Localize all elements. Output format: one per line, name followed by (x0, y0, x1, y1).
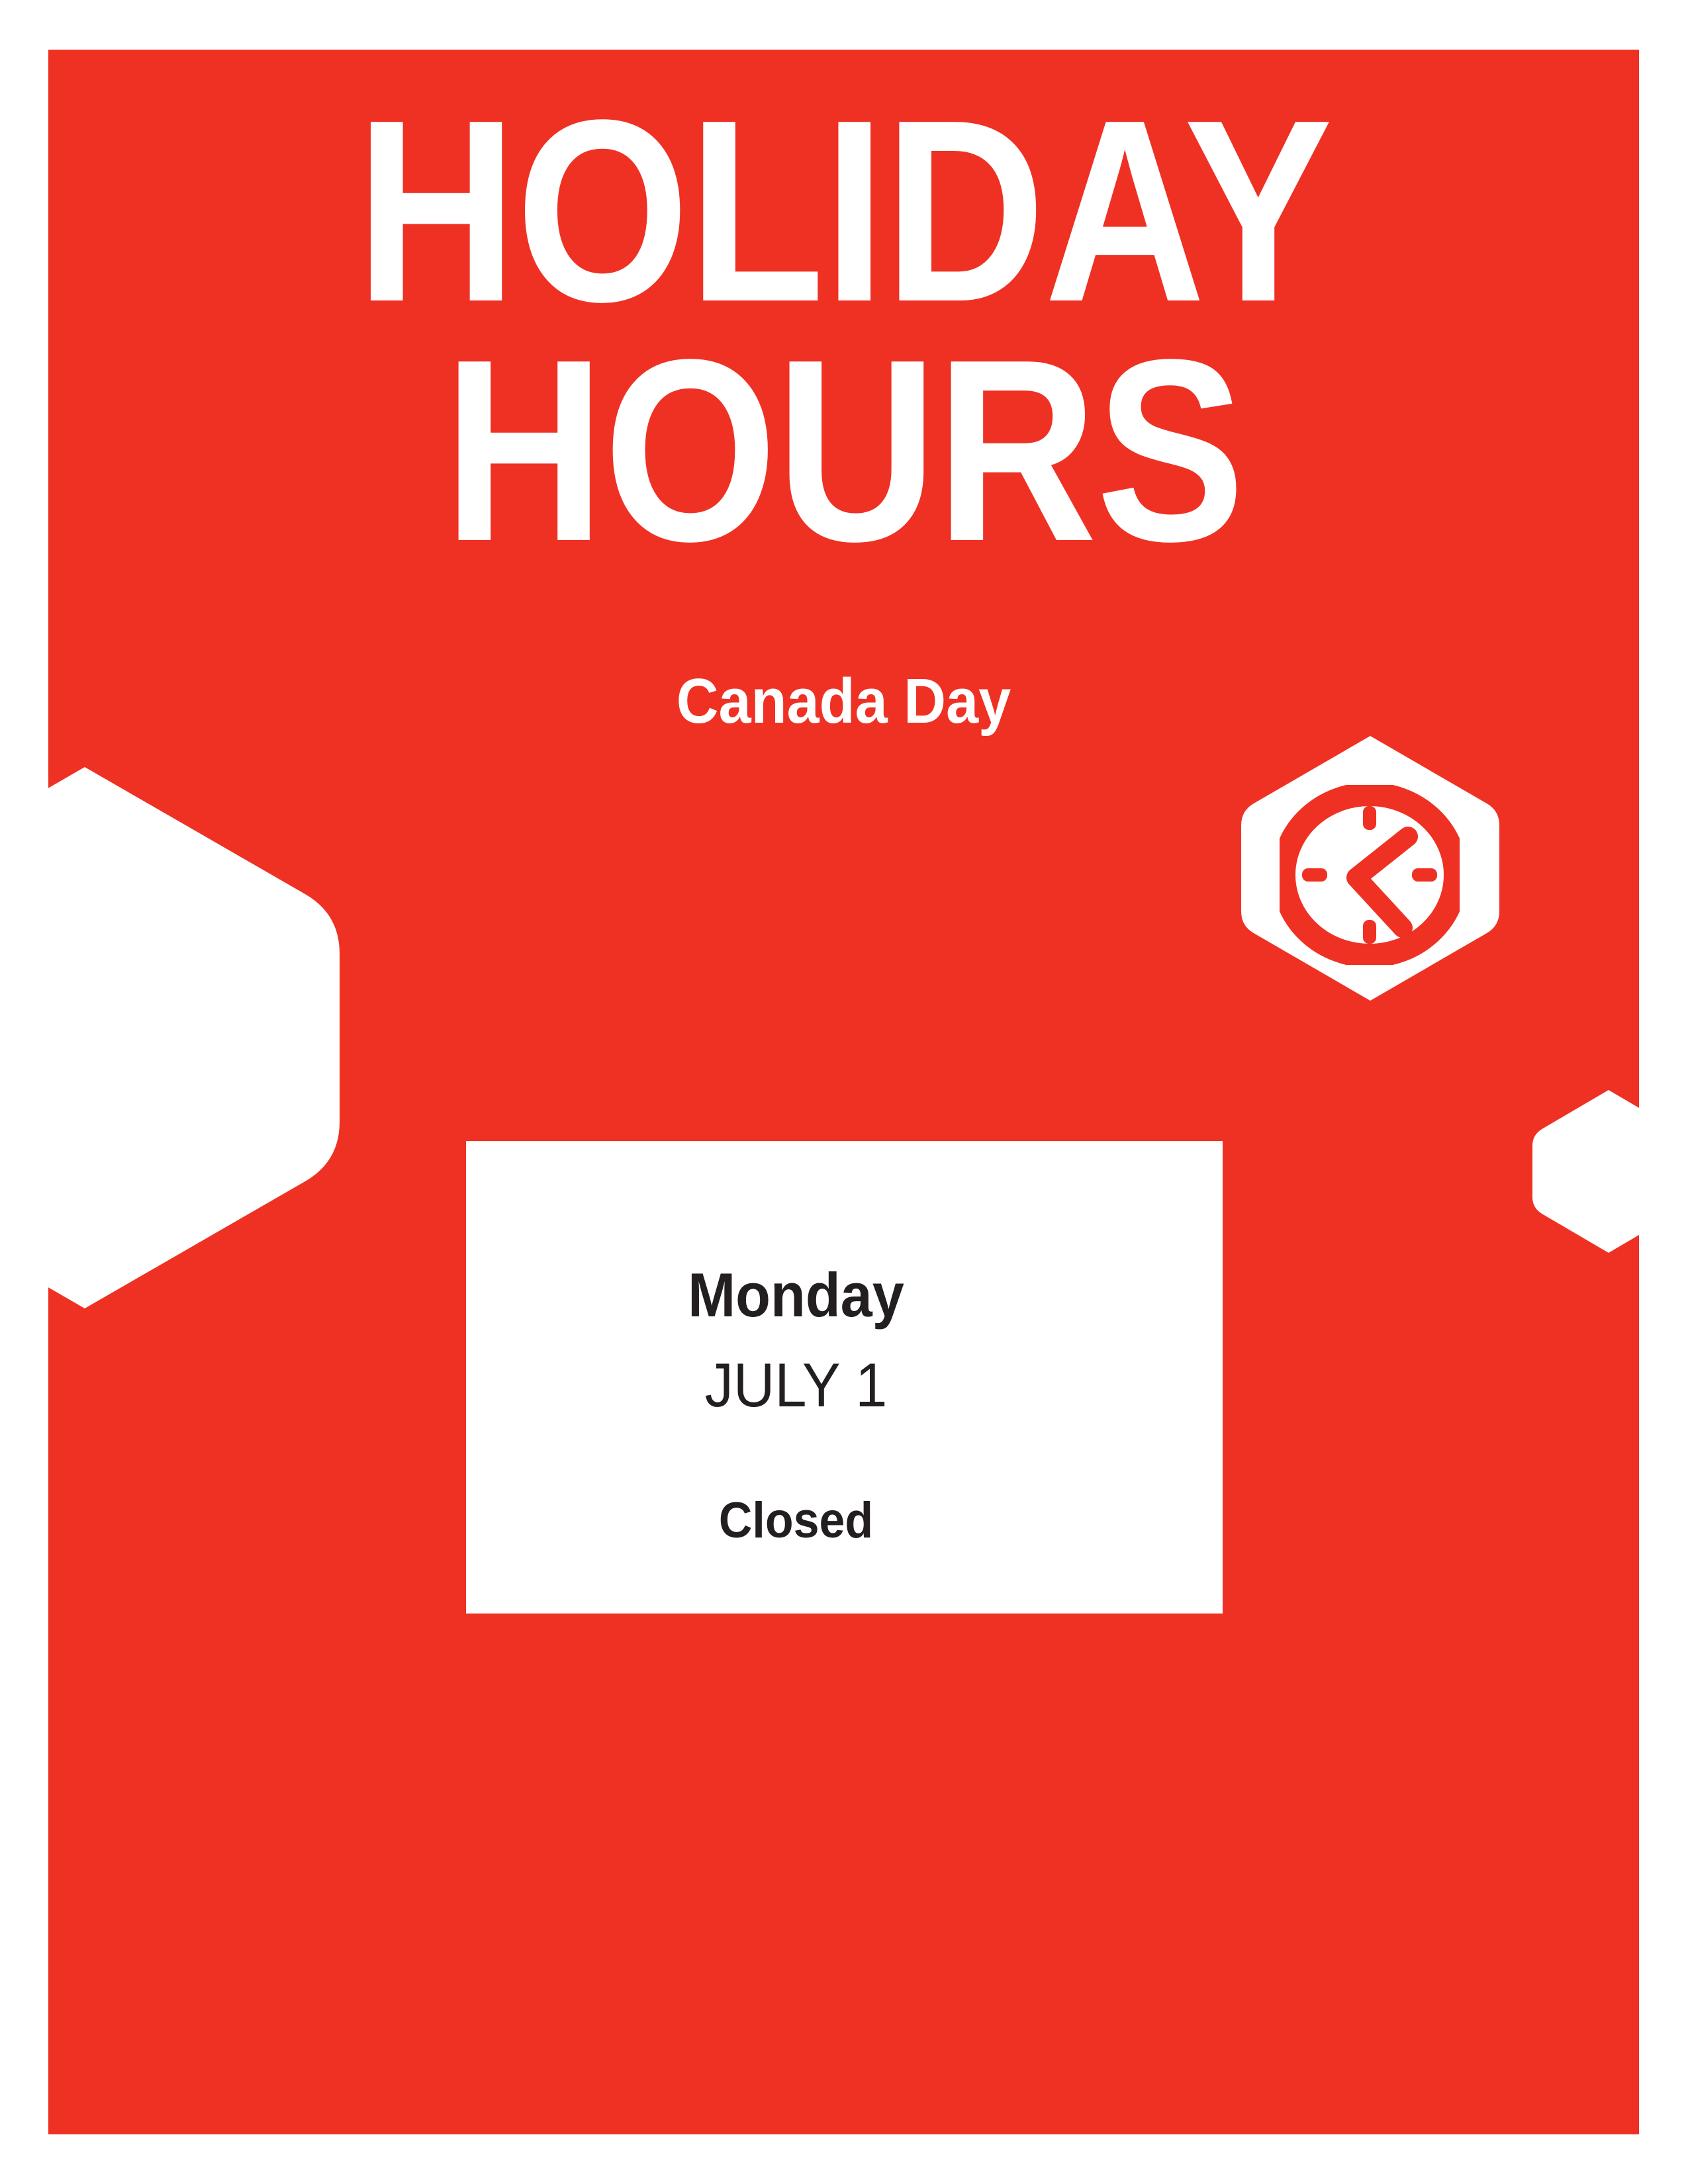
poster-canvas: HOLIDAY HOURS Canada Day (0, 0, 1688, 2184)
holiday-weekday: Monday (448, 1264, 1145, 1326)
holiday-info-card: Monday JULY 1 Closed (466, 1141, 1223, 1614)
clock-icon (1280, 785, 1460, 965)
holiday-info-card-content: Monday JULY 1 Closed (466, 1141, 1223, 1614)
page-subtitle: Canada Day (112, 670, 1575, 733)
red-panel: HOLIDAY HOURS Canada Day (48, 50, 1639, 2134)
hexagon-decor-right (1532, 1089, 1639, 1254)
page-title-line-1: HOLIDAY (160, 88, 1528, 334)
holiday-status: Closed (448, 1496, 1145, 1546)
page-title-line-2: HOURS (160, 328, 1528, 574)
hexagon-decor-bottom-left (48, 763, 340, 1312)
holiday-date: JULY 1 (448, 1354, 1145, 1416)
clock-badge (1241, 733, 1499, 1003)
